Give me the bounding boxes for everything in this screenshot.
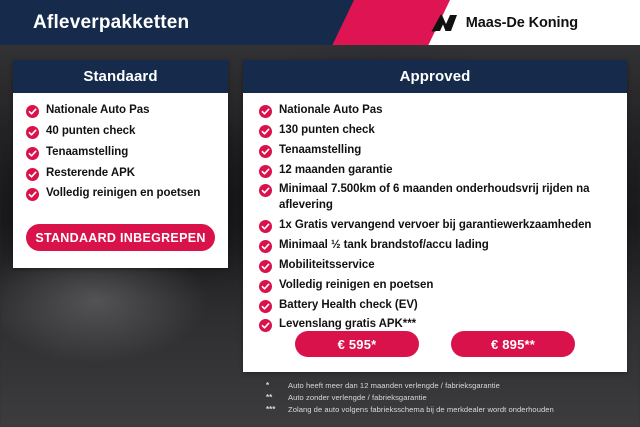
- feature-item: Minimaal 7.500km of 6 maanden onderhouds…: [259, 182, 613, 214]
- feature-label: Volledig reinigen en poetsen: [279, 278, 433, 294]
- check-circle-icon: [259, 145, 272, 158]
- check-circle-icon: [26, 188, 39, 201]
- brand-name: Maas-De Koning: [466, 15, 578, 31]
- slide-root: Afleverpakketten Maas-De Koning Standaar…: [0, 0, 640, 427]
- footnote-text: Zolang de auto volgens fabrieksschema bi…: [288, 404, 554, 415]
- feature-item: 130 punten check: [259, 123, 613, 139]
- page-header: Afleverpakketten Maas-De Koning: [0, 0, 640, 45]
- footnote-item: * Auto heeft meer dan 12 maanden verleng…: [266, 380, 638, 391]
- footnote-text: Auto zonder verlengde / fabrieksgarantie: [288, 392, 427, 403]
- footnote-item: ** Auto zonder verlengde / fabrieksgaran…: [266, 392, 638, 403]
- feature-list-approved: Nationale Auto Pas 130 punten check Tena…: [259, 103, 613, 333]
- package-card-standaard: Standaard Nationale Auto Pas 40 punten c…: [13, 60, 228, 268]
- feature-label: Battery Health check (EV): [279, 298, 418, 314]
- check-circle-icon: [259, 184, 272, 197]
- feature-label: Minimaal 7.500km of 6 maanden onderhouds…: [279, 182, 613, 214]
- package-title-standaard: Standaard: [13, 60, 228, 93]
- check-circle-icon: [259, 260, 272, 273]
- footnote-item: *** Zolang de auto volgens fabrieksschem…: [266, 404, 638, 415]
- check-circle-icon: [259, 125, 272, 138]
- feature-label: Nationale Auto Pas: [279, 103, 382, 119]
- check-circle-icon: [26, 126, 39, 139]
- feature-item: 40 punten check: [26, 124, 218, 140]
- check-circle-icon: [26, 168, 39, 181]
- feature-item: Volledig reinigen en poetsen: [26, 186, 218, 202]
- feature-item: 12 maanden garantie: [259, 163, 613, 179]
- check-circle-icon: [259, 220, 272, 233]
- feature-item: Volledig reinigen en poetsen: [259, 278, 613, 294]
- package-title-approved: Approved: [243, 60, 627, 93]
- feature-label: Resterende APK: [46, 166, 135, 182]
- package-body-standaard: Nationale Auto Pas 40 punten check Tenaa…: [13, 93, 228, 202]
- feature-label: Nationale Auto Pas: [46, 103, 149, 119]
- price-button-row: € 595* € 895**: [243, 331, 627, 357]
- footnote-list: * Auto heeft meer dan 12 maanden verleng…: [266, 380, 638, 416]
- feature-label: Tenaamstelling: [279, 143, 361, 159]
- price-button-895[interactable]: € 895**: [451, 331, 575, 357]
- package-body-approved: Nationale Auto Pas 130 punten check Tena…: [243, 93, 627, 333]
- feature-item: Tenaamstelling: [259, 143, 613, 159]
- check-circle-icon: [259, 165, 272, 178]
- footnote-marker: *: [266, 380, 288, 391]
- footnote-marker: **: [266, 392, 288, 403]
- check-circle-icon: [26, 105, 39, 118]
- feature-item: Nationale Auto Pas: [26, 103, 218, 119]
- feature-list-standaard: Nationale Auto Pas 40 punten check Tenaa…: [26, 103, 218, 202]
- check-circle-icon: [259, 300, 272, 313]
- feature-label: 12 maanden garantie: [279, 163, 392, 179]
- feature-label: Volledig reinigen en poetsen: [46, 186, 200, 202]
- standaard-inbegrepen-button[interactable]: STANDAARD INBEGREPEN: [26, 224, 215, 251]
- feature-label: 130 punten check: [279, 123, 375, 139]
- feature-item: Minimaal ½ tank brandstof/accu lading: [259, 238, 613, 254]
- footnote-marker: ***: [266, 404, 288, 415]
- feature-item: Battery Health check (EV): [259, 298, 613, 314]
- maas-de-koning-m-mark-icon: [431, 13, 459, 33]
- feature-item: Tenaamstelling: [26, 145, 218, 161]
- feature-label: 40 punten check: [46, 124, 135, 140]
- page-title: Afleverpakketten: [33, 0, 189, 45]
- feature-item: Resterende APK: [26, 166, 218, 182]
- feature-label: Mobiliteitsservice: [279, 258, 375, 274]
- feature-label: 1x Gratis vervangend vervoer bij garanti…: [279, 218, 591, 234]
- check-circle-icon: [259, 280, 272, 293]
- price-button-595[interactable]: € 595*: [295, 331, 419, 357]
- feature-label: Tenaamstelling: [46, 145, 128, 161]
- feature-item: 1x Gratis vervangend vervoer bij garanti…: [259, 218, 613, 234]
- feature-label: Minimaal ½ tank brandstof/accu lading: [279, 238, 489, 254]
- check-circle-icon: [259, 105, 272, 118]
- check-circle-icon: [26, 147, 39, 160]
- package-card-approved: Approved Nationale Auto Pas 130 punten c…: [243, 60, 627, 372]
- brand-logo: Maas-De Koning: [431, 0, 578, 45]
- feature-item: Mobiliteitsservice: [259, 258, 613, 274]
- check-circle-icon: [259, 240, 272, 253]
- footnote-text: Auto heeft meer dan 12 maanden verlengde…: [288, 380, 500, 391]
- feature-item: Nationale Auto Pas: [259, 103, 613, 119]
